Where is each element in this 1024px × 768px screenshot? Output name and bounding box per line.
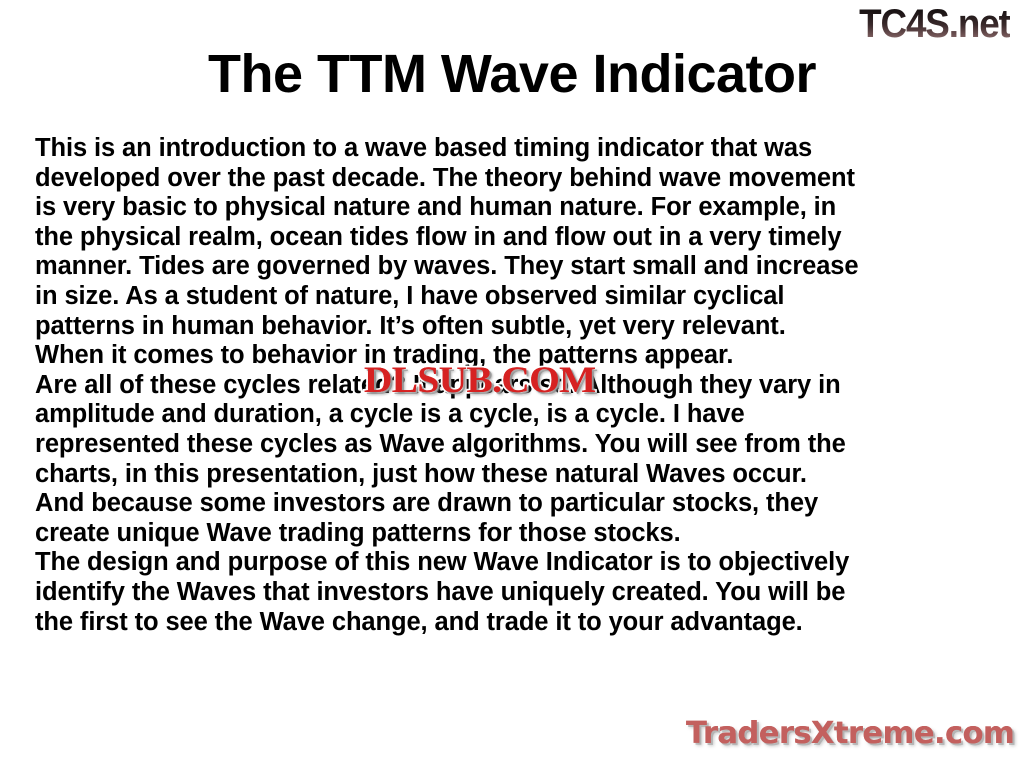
body-line: And because some investors are drawn to … xyxy=(35,489,995,519)
body-line: identify the Waves that investors have u… xyxy=(35,578,995,608)
body-line: manner. Tides are governed by waves. The… xyxy=(35,252,995,282)
body-line: developed over the past decade. The theo… xyxy=(35,164,995,194)
body-line: create unique Wave trading patterns for … xyxy=(35,519,995,549)
body-line: is very basic to physical nature and hum… xyxy=(35,193,995,223)
body-line: amplitude and duration, a cycle is a cyc… xyxy=(35,400,995,430)
body-line: This is an introduction to a wave based … xyxy=(35,134,995,164)
body-line: patterns in human behavior. It’s often s… xyxy=(35,312,995,342)
body-line: the physical realm, ocean tides flow in … xyxy=(35,223,995,253)
body-line: represented these cycles as Wave algorit… xyxy=(35,430,995,460)
body-line: charts, in this presentation, just how t… xyxy=(35,460,995,490)
tradersxtreme-brand-logo: TradersXtreme.com xyxy=(686,716,1014,752)
page-title: The TTM Wave Indicator xyxy=(0,42,1024,106)
body-line: The design and purpose of this new Wave … xyxy=(35,548,995,578)
presentation-slide: TC4S.net The TTM Wave Indicator This is … xyxy=(0,0,1024,768)
body-line: in size. As a student of nature, I have … xyxy=(35,282,995,312)
tc4s-brand-logo: TC4S.net xyxy=(859,2,1010,46)
body-line: the first to see the Wave change, and tr… xyxy=(35,608,995,638)
dlsub-watermark: DLSUB.COM xyxy=(364,361,596,401)
